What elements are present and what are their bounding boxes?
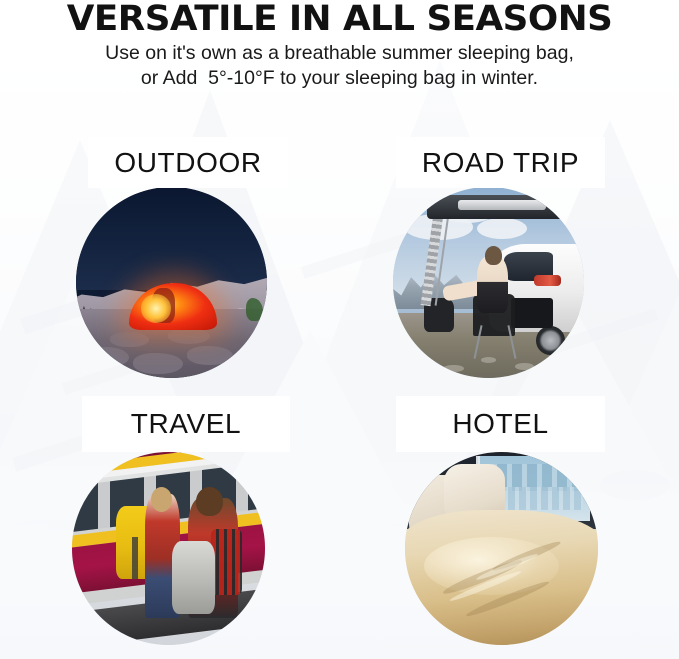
tile-label-hotel-text: HOTEL xyxy=(452,410,548,438)
subtitle-line-1: Use on it's own as a breathable summer s… xyxy=(0,41,679,66)
tile-label-road-trip: ROAD TRIP xyxy=(396,137,605,188)
subtitle-line-2: or Add 5°-10°F to your sleeping bag in w… xyxy=(0,66,679,91)
versatile-seasons-infographic: VERSATILE IN ALL SEASONS Use on it's own… xyxy=(0,0,679,659)
tile-label-travel: TRAVEL xyxy=(82,396,290,452)
tile-label-hotel: HOTEL xyxy=(396,396,605,452)
tile-label-outdoor: OUTDOOR xyxy=(88,137,288,188)
outdoor-tent-photo xyxy=(76,187,267,378)
travel-train-photo xyxy=(72,452,265,645)
tile-label-travel-text: TRAVEL xyxy=(131,410,241,438)
road-trip-photo xyxy=(393,187,584,378)
header: VERSATILE IN ALL SEASONS Use on it's own… xyxy=(0,0,679,91)
hotel-bed-photo xyxy=(405,452,598,645)
tile-label-road-trip-text: ROAD TRIP xyxy=(422,149,579,177)
page-title: VERSATILE IN ALL SEASONS xyxy=(0,2,679,36)
tile-label-outdoor-text: OUTDOOR xyxy=(114,149,261,177)
